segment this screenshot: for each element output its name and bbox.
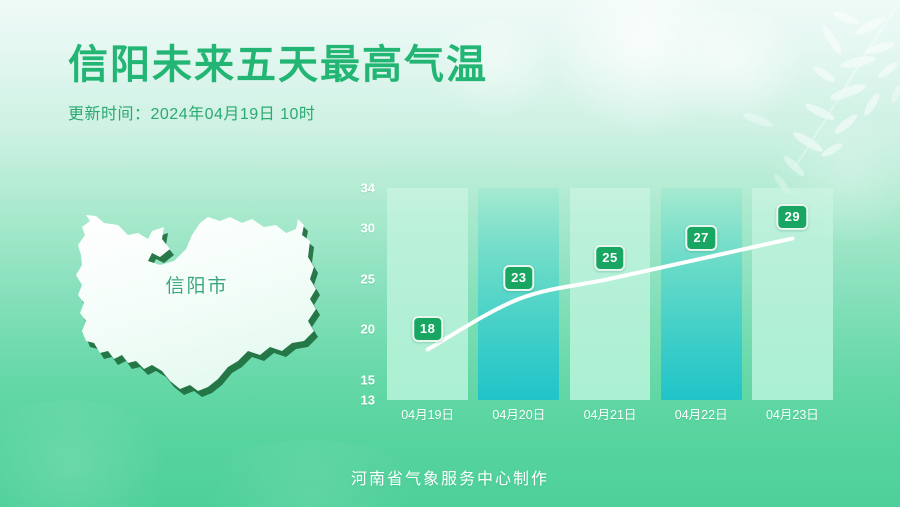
y-axis-tick: 15 [345,372,375,387]
map-city-label: 信阳市 [52,271,342,298]
temperature-chart: 34302520151304月19日04月20日04月21日04月22日04月2… [345,188,855,420]
update-time-text: 更新时间：2024年04月19日 10时 [68,100,488,124]
y-axis-tick: 30 [345,221,375,236]
page-title: 信阳未来五天最高气温 [68,42,488,88]
temperature-value-badge: 27 [685,225,716,251]
x-axis-tick: 04月19日 [401,404,454,423]
y-axis-tick: 25 [345,271,375,286]
y-axis-tick: 13 [345,393,375,408]
y-axis-tick: 34 [345,181,375,196]
y-axis-tick: 20 [345,322,375,337]
footer-credit: 河南省气象服务中心制作 [0,465,900,489]
cloud-blob-icon [660,10,810,120]
willow-branch-icon [720,0,900,200]
temperature-value-badge: 25 [594,245,625,271]
infographic-canvas: 信阳未来五天最高气温 更新时间：2024年04月19日 10时 信阳市 [0,0,900,507]
x-axis-tick: 04月21日 [584,404,637,423]
temperature-value-badge: 18 [412,316,443,342]
x-axis-tick: 04月23日 [766,404,819,423]
header-block: 信阳未来五天最高气温 更新时间：2024年04月19日 10时 [68,42,488,124]
cloud-blob-icon [0,400,180,507]
temperature-value-badge: 29 [777,204,808,230]
x-axis-tick: 04月22日 [675,404,728,423]
chart-plot-area [382,188,838,400]
temperature-line [382,188,838,400]
region-map: 信阳市 [52,183,342,403]
cloud-blob-icon [540,0,750,130]
temperature-value-badge: 23 [503,265,534,291]
x-axis-tick: 04月20日 [492,404,545,423]
